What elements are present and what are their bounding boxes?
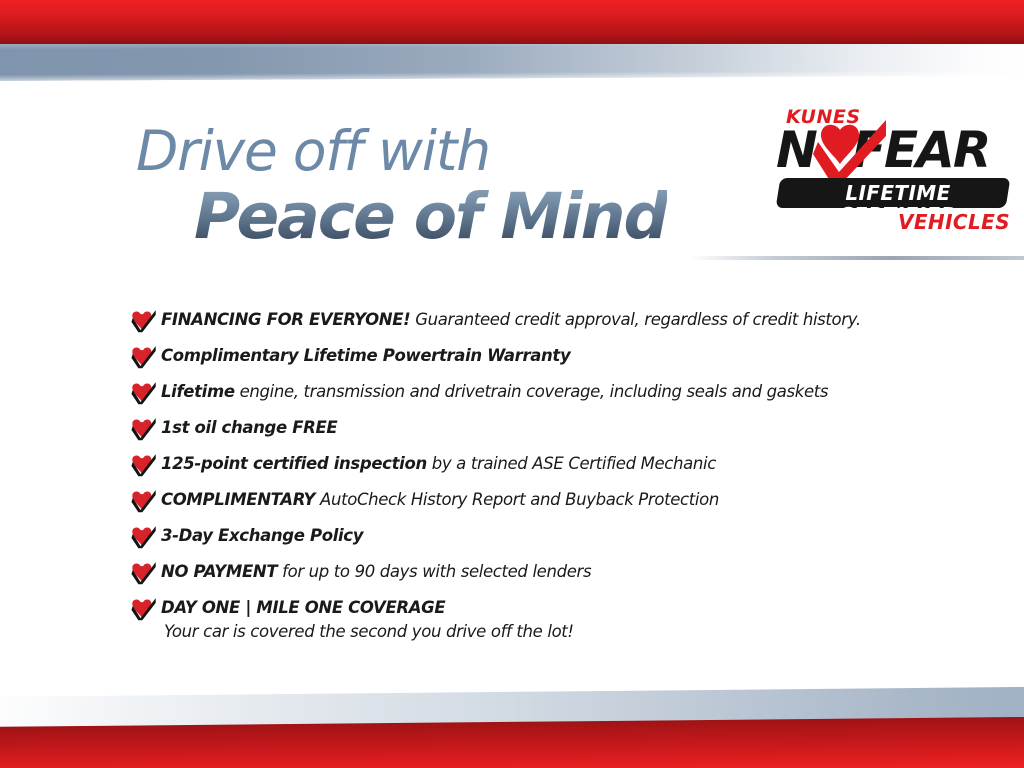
list-item-text: DAY ONE | MILE ONE COVERAGE	[161, 596, 445, 620]
list-item-text: 125-point certified inspection by a trai…	[161, 452, 716, 476]
benefits-list: FINANCING FOR EVERYONE! Guaranteed credi…	[131, 308, 951, 644]
list-item-bold: NO PAYMENT	[161, 562, 277, 581]
list-item-main: DAY ONE | MILE ONE COVERAGE	[131, 596, 951, 622]
list-item-bold: COMPLIMENTARY	[161, 490, 315, 509]
list-item-text: Lifetime engine, transmission and drivet…	[161, 380, 828, 404]
headline-line-2: Peace of Mind	[194, 182, 667, 252]
list-item-rest: Guaranteed credit approval, regardless o…	[410, 310, 860, 329]
list-item-bold: DAY ONE | MILE ONE COVERAGE	[161, 598, 445, 617]
heart-check-icon	[131, 344, 157, 370]
top-red-band	[0, 0, 1024, 44]
list-item-text: FINANCING FOR EVERYONE! Guaranteed credi…	[161, 308, 861, 332]
header-divider	[690, 256, 1024, 260]
list-item-text: Complimentary Lifetime Powertrain Warran…	[161, 344, 570, 368]
logo-vehicles: VEHICLES	[898, 210, 1010, 234]
list-item-rest: engine, transmission and drivetrain cove…	[235, 382, 828, 401]
list-item-text: COMPLIMENTARY AutoCheck History Report a…	[161, 488, 719, 512]
list-item: 3-Day Exchange Policy	[131, 524, 951, 550]
list-item: DAY ONE | MILE ONE COVERAGE Your car is …	[131, 596, 951, 644]
list-item-rest: by a trained ASE Certified Mechanic	[427, 454, 716, 473]
heart-check-icon	[131, 560, 157, 586]
heart-check-icon	[131, 524, 157, 550]
heart-check-icon	[131, 308, 157, 334]
heart-check-icon	[131, 416, 157, 442]
list-item: NO PAYMENT for up to 90 days with select…	[131, 560, 951, 586]
heart-check-icon	[131, 596, 157, 622]
list-item: COMPLIMENTARY AutoCheck History Report a…	[131, 488, 951, 514]
list-item-bold: 1st oil change FREE	[161, 418, 337, 437]
list-item-rest: for up to 90 days with selected lenders	[277, 562, 591, 581]
heart-check-icon	[810, 120, 892, 186]
list-item: Complimentary Lifetime Powertrain Warran…	[131, 344, 951, 370]
list-item-bold: FINANCING FOR EVERYONE!	[161, 310, 410, 329]
list-item: 1st oil change FREE	[131, 416, 951, 442]
list-item-text: 1st oil change FREE	[161, 416, 337, 440]
heart-check-icon	[131, 488, 157, 514]
headline-line-1: Drive off with	[136, 122, 667, 180]
list-item-text: 3-Day Exchange Policy	[161, 524, 363, 548]
list-item-bold: 125-point certified inspection	[161, 454, 427, 473]
list-item-bold: 3-Day Exchange Policy	[161, 526, 363, 545]
list-item: FINANCING FOR EVERYONE! Guaranteed credi…	[131, 308, 951, 334]
kunes-no-fear-logo: KUNES NFEAR LIFETIME CERTIFIED VEHICLES	[772, 106, 1014, 246]
list-item-subtext: Your car is covered the second you drive…	[164, 620, 951, 644]
list-item-bold: Complimentary Lifetime Powertrain Warran…	[161, 346, 570, 365]
list-item: 125-point certified inspection by a trai…	[131, 452, 951, 478]
list-item-rest: AutoCheck History Report and Buyback Pro…	[315, 490, 719, 509]
headline: Drive off with Peace of Mind	[136, 122, 667, 252]
heart-check-icon	[131, 380, 157, 406]
list-item-bold: Lifetime	[161, 382, 235, 401]
list-item: Lifetime engine, transmission and drivet…	[131, 380, 951, 406]
list-item-text: NO PAYMENT for up to 90 days with select…	[161, 560, 591, 584]
heart-check-icon	[131, 452, 157, 478]
promo-poster: Drive off with Peace of Mind KUNES NFEAR…	[0, 0, 1024, 768]
